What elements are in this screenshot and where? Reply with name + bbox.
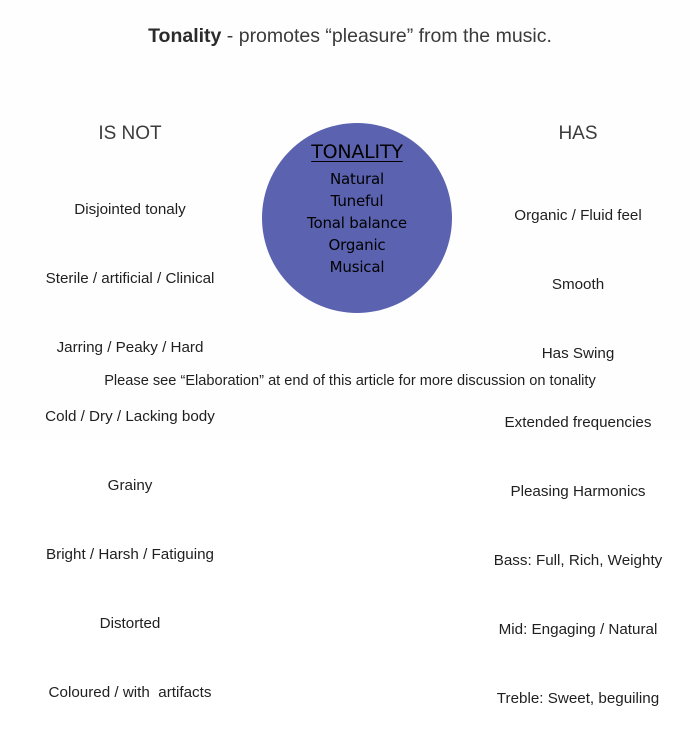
page-title-rest: - promotes “pleasure” from the music. xyxy=(221,25,552,47)
list-item: Organic / Fluid feel xyxy=(460,204,696,227)
page-title: Tonality - promotes “pleasure” from the … xyxy=(0,24,700,48)
list-item: Bass: Full, Rich, Weighty xyxy=(460,549,696,572)
tonality-circle-title: TONALITY xyxy=(311,140,403,164)
tonality-circle-list: Natural Tuneful Tonal balance Organic Mu… xyxy=(307,168,407,278)
list-item: Distorted xyxy=(18,612,242,635)
list-item: Has Swing xyxy=(460,342,696,365)
list-item: Extended frequencies xyxy=(460,411,696,434)
list-item: Tuneful xyxy=(307,190,407,212)
list-item: Organic xyxy=(307,234,407,256)
list-item: Bright / Harsh / Fatiguing xyxy=(18,543,242,566)
list-item: Jarring / Peaky / Hard xyxy=(18,336,242,359)
right-column-heading: HAS xyxy=(462,122,694,146)
slide-canvas: Tonality - promotes “pleasure” from the … xyxy=(0,0,700,441)
list-item: Coloured / with artifacts xyxy=(18,681,242,704)
list-item: Disjointed tonaly xyxy=(18,198,242,221)
list-item: Natural xyxy=(307,168,407,190)
list-item: Grainy xyxy=(18,474,242,497)
list-item: Musical xyxy=(307,256,407,278)
list-item: Cold / Dry / Lacking body xyxy=(18,405,242,428)
list-item: Sterile / artificial / Clinical xyxy=(18,267,242,290)
tonality-circle-content: TONALITY Natural Tuneful Tonal balance O… xyxy=(262,123,452,313)
footer-note: Please see “Elaboration” at end of this … xyxy=(0,371,700,391)
list-item: Tonal balance xyxy=(307,212,407,234)
list-item: Mid: Engaging / Natural xyxy=(460,618,696,641)
list-item: Smooth xyxy=(460,273,696,296)
list-item: Treble: Sweet, beguiling xyxy=(460,687,696,710)
right-column-list: Organic / Fluid feel Smooth Has Swing Ex… xyxy=(460,158,696,756)
left-column-heading: IS NOT xyxy=(20,122,240,146)
tonality-circle: TONALITY Natural Tuneful Tonal balance O… xyxy=(262,123,452,313)
page-title-emphasis: Tonality xyxy=(148,25,221,47)
left-column-list: Disjointed tonaly Sterile / artificial /… xyxy=(18,152,242,750)
list-item: Pleasing Harmonics xyxy=(460,480,696,503)
